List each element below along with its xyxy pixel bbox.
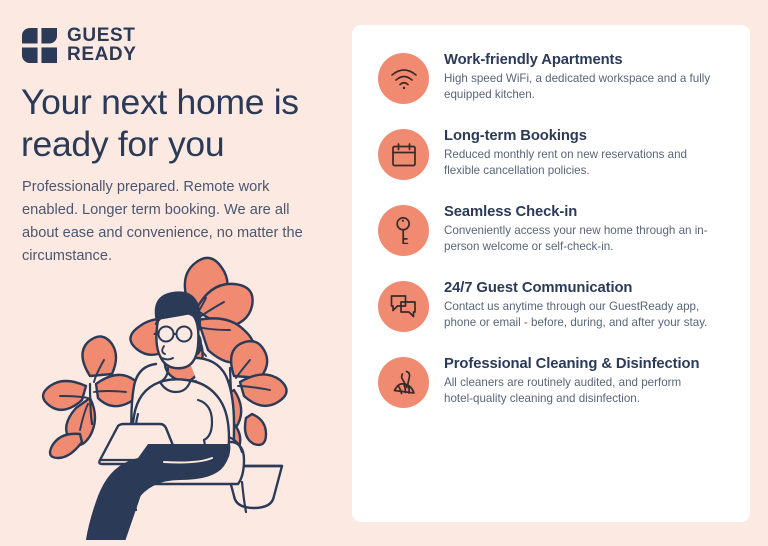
feature-title: Work-friendly Apartments: [444, 52, 712, 68]
feature-description: Contact us anytime through our GuestRead…: [444, 299, 712, 332]
feature-item-professional-cleaning[interactable]: Professional Cleaning & Disinfection All…: [378, 355, 728, 408]
feature-description: High speed WiFi, a dedicated workspace a…: [444, 71, 712, 104]
broom-icon: [378, 357, 429, 408]
chat-bubbles-icon: [378, 281, 429, 332]
feature-item-seamless-check-in[interactable]: Seamless Check-in Conveniently access yo…: [378, 203, 728, 256]
feature-text: Seamless Check-in Conveniently access yo…: [444, 203, 712, 256]
poster-canvas: GUEST READY Your next home is ready for …: [0, 0, 768, 546]
feature-description: Reduced monthly rent on new reservations…: [444, 147, 712, 180]
feature-list: Work-friendly Apartments High speed WiFi…: [378, 51, 728, 408]
wifi-icon: [378, 53, 429, 104]
feature-title: Seamless Check-in: [444, 204, 712, 220]
feature-item-long-term-bookings[interactable]: Long-term Bookings Reduced monthly rent …: [378, 127, 728, 180]
feature-text: Long-term Bookings Reduced monthly rent …: [444, 127, 712, 180]
feature-text: Work-friendly Apartments High speed WiFi…: [444, 51, 712, 104]
features-card: Work-friendly Apartments High speed WiFi…: [352, 25, 750, 522]
woman-with-laptop-in-armchair-with-plants-illustration: [38, 248, 338, 540]
brand-name-line-2: READY: [67, 46, 137, 65]
feature-title: 24/7 Guest Communication: [444, 280, 712, 296]
feature-text: Professional Cleaning & Disinfection All…: [444, 355, 712, 408]
feature-description: Conveniently access your new home throug…: [444, 223, 712, 256]
page-title: Your next home is ready for you: [21, 82, 341, 166]
feature-item-guest-communication[interactable]: 24/7 Guest Communication Contact us anyt…: [378, 279, 728, 332]
feature-title: Professional Cleaning & Disinfection: [444, 356, 712, 372]
brand-wordmark: GUEST READY: [67, 27, 137, 64]
calendar-icon: [378, 129, 429, 180]
guestready-quadrant-logo-icon: [21, 27, 58, 64]
brand-name-line-1: GUEST: [67, 27, 137, 46]
brand-logo[interactable]: GUEST READY: [21, 27, 137, 64]
hero-column: GUEST READY Your next home is ready for …: [0, 0, 352, 546]
feature-item-work-friendly-apartments[interactable]: Work-friendly Apartments High speed WiFi…: [378, 51, 728, 104]
key-icon: [378, 205, 429, 256]
feature-title: Long-term Bookings: [444, 128, 712, 144]
feature-description: All cleaners are routinely audited, and …: [444, 375, 712, 408]
feature-text: 24/7 Guest Communication Contact us anyt…: [444, 279, 712, 332]
